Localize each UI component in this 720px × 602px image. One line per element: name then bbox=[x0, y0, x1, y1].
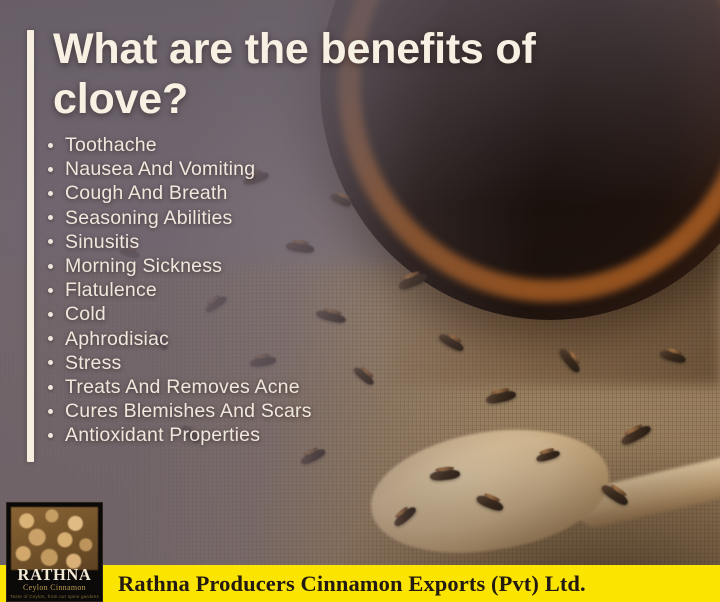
rathna-logo: RATHNA Ceylon Cinnamon Taste of Ceylon, … bbox=[6, 502, 103, 602]
bullet-icon bbox=[48, 385, 53, 390]
list-item-label: Seasoning Abilities bbox=[65, 207, 233, 229]
company-name: Rathna Producers Cinnamon Exports (Pvt) … bbox=[118, 571, 586, 597]
poster-content: What are the benefits of clove? Toothach… bbox=[0, 0, 720, 602]
list-item: Stress bbox=[46, 351, 312, 375]
bullet-icon bbox=[48, 264, 53, 269]
bullet-icon bbox=[48, 215, 53, 220]
list-item-label: Morning Sickness bbox=[65, 255, 222, 277]
bullet-icon bbox=[48, 409, 53, 414]
title-line-2: clove? bbox=[53, 75, 188, 123]
list-item: Treats And Removes Acne bbox=[46, 375, 312, 399]
cinnamon-quills-image bbox=[11, 507, 98, 570]
list-item-label: Antioxidant Properties bbox=[65, 424, 260, 446]
bullet-icon bbox=[48, 167, 53, 172]
list-item-label: Nausea And Vomiting bbox=[65, 158, 255, 180]
list-item: Nausea And Vomiting bbox=[46, 157, 312, 181]
accent-bar bbox=[27, 30, 34, 462]
bullet-icon bbox=[48, 312, 53, 317]
list-item: Toothache bbox=[46, 133, 312, 157]
list-item-label: Cough And Breath bbox=[65, 182, 228, 204]
bullet-icon bbox=[48, 360, 53, 365]
list-item-label: Sinusitis bbox=[65, 231, 139, 253]
list-item-label: Flatulence bbox=[65, 279, 157, 301]
list-item: Antioxidant Properties bbox=[46, 423, 312, 447]
list-item-label: Stress bbox=[65, 352, 121, 374]
list-item: Cold bbox=[46, 302, 312, 326]
list-item: Flatulence bbox=[46, 278, 312, 302]
list-item: Seasoning Abilities bbox=[46, 206, 312, 230]
list-item-label: Aphrodisiac bbox=[65, 328, 169, 350]
benefits-list: Toothache Nausea And Vomiting Cough And … bbox=[46, 133, 312, 448]
list-item: Sinusitis bbox=[46, 230, 312, 254]
logo-subtitle: Ceylon Cinnamon bbox=[7, 583, 102, 592]
page-title: What are the benefits of clove? bbox=[53, 24, 703, 125]
clove-benefits-poster: What are the benefits of clove? Toothach… bbox=[0, 0, 720, 602]
list-item-label: Cures Blemishes And Scars bbox=[65, 400, 312, 422]
list-item: Morning Sickness bbox=[46, 254, 312, 278]
list-item: Aphrodisiac bbox=[46, 327, 312, 351]
logo-brand-name: RATHNA bbox=[7, 565, 102, 585]
bullet-icon bbox=[48, 239, 53, 244]
logo-tagline: Taste of Ceylon, from our spice gardens bbox=[7, 594, 102, 599]
bullet-icon bbox=[48, 433, 53, 438]
list-item-label: Toothache bbox=[65, 134, 157, 156]
list-item: Cures Blemishes And Scars bbox=[46, 399, 312, 423]
list-item: Cough And Breath bbox=[46, 181, 312, 205]
bullet-icon bbox=[48, 191, 53, 196]
title-line-1: What are the benefits of bbox=[53, 25, 536, 73]
bullet-icon bbox=[48, 288, 53, 293]
list-item-label: Cold bbox=[65, 303, 106, 325]
bullet-icon bbox=[48, 336, 53, 341]
bullet-icon bbox=[48, 143, 53, 148]
list-item-label: Treats And Removes Acne bbox=[65, 376, 300, 398]
